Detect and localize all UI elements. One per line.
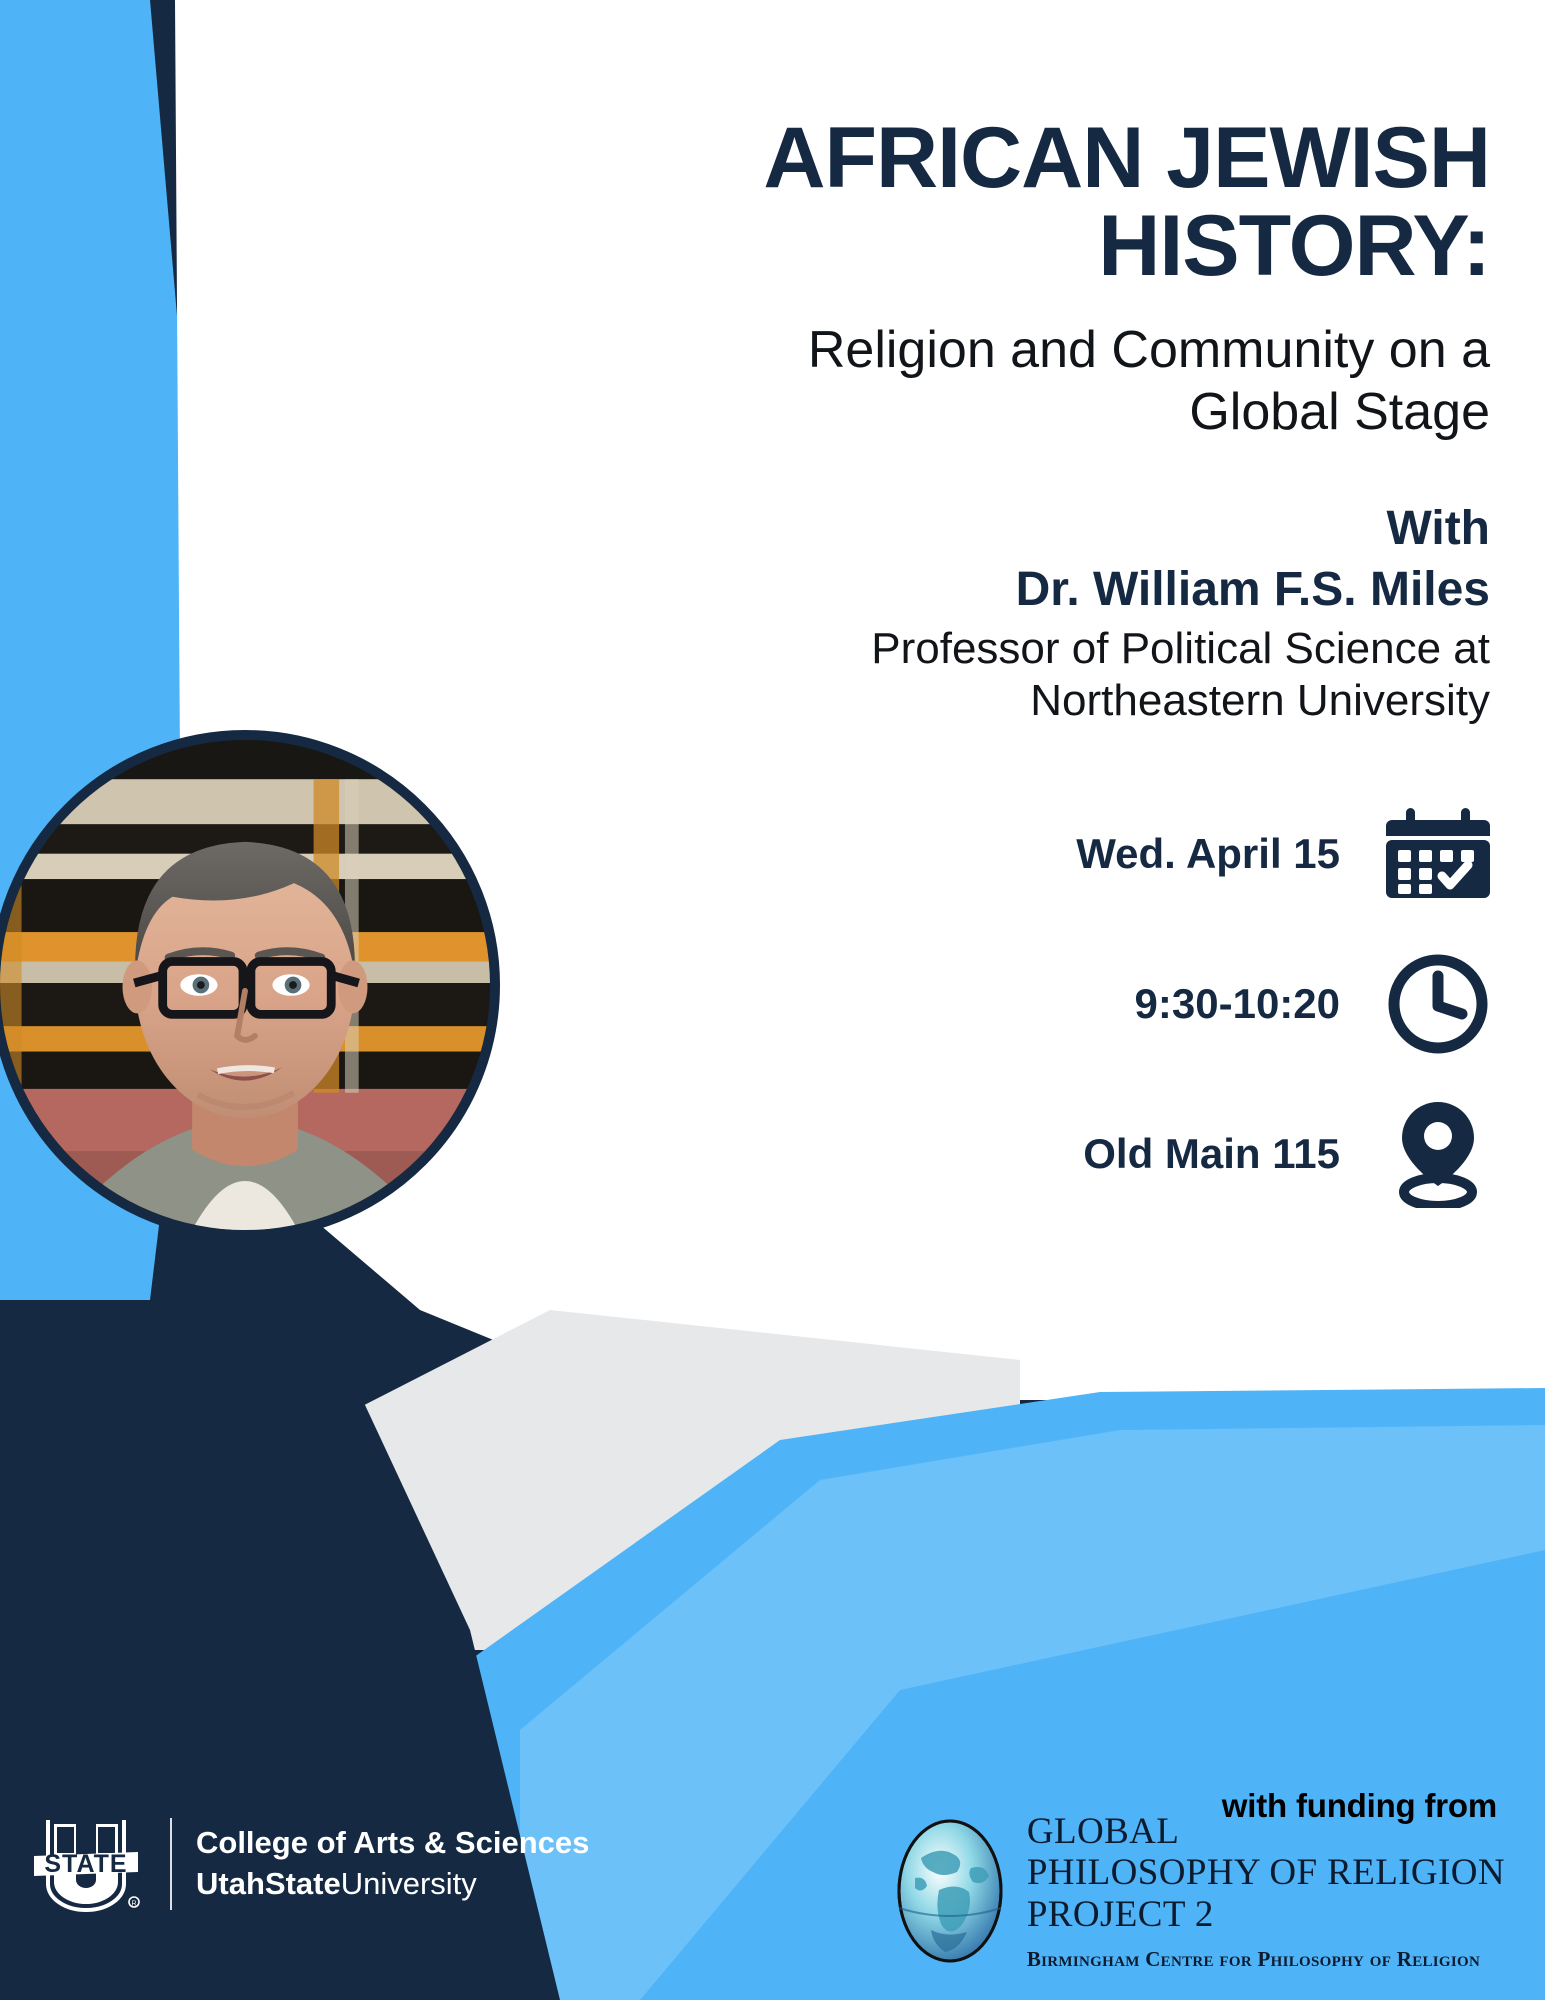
affiliation-line-2: Northeastern University [480, 675, 1490, 727]
speaker-name: Dr. William F.S. Miles [480, 562, 1490, 617]
with-label: With [480, 501, 1490, 556]
logo-divider [170, 1818, 172, 1910]
detail-row-time: 9:30-10:20 [770, 945, 1490, 1063]
subtitle-line-2: Global Stage [480, 382, 1490, 443]
event-location-label: Old Main 115 [1083, 1130, 1340, 1178]
detail-row-date: Wed. April 15 [770, 795, 1490, 913]
event-time-label: 9:30-10:20 [1135, 980, 1340, 1028]
poster-content: AFRICAN JEWISH HISTORY: Religion and Com… [480, 0, 1490, 727]
title-line-2: HISTORY: [480, 203, 1490, 291]
map-pin-icon [1386, 1100, 1490, 1208]
speaker-portrait-image [0, 740, 490, 1230]
speaker-affiliation: Professor of Political Science at Northe… [480, 623, 1490, 727]
event-poster: AFRICAN JEWISH HISTORY: Religion and Com… [0, 0, 1545, 2000]
university-name-bold: UtahState [196, 1866, 341, 1901]
poster-title: AFRICAN JEWISH HISTORY: [480, 115, 1490, 290]
utah-state-lockup-text: College of Arts & Sciences UtahStateUniv… [196, 1823, 589, 1905]
speaker-portrait [0, 730, 500, 1240]
affiliation-line-1: Professor of Political Science at [480, 623, 1490, 675]
subtitle-line-1: Religion and Community on a [480, 320, 1490, 381]
globe-icon [891, 1816, 1009, 1966]
utah-state-u-icon: STATE R [26, 1810, 146, 1918]
event-date-label: Wed. April 15 [1076, 830, 1340, 878]
calendar-icon [1386, 806, 1490, 902]
svg-text:R: R [131, 1901, 136, 1908]
university-name: UtahStateUniversity [196, 1864, 589, 1905]
gpr-project-logo-block: GLOBAL PHILOSOPHY OF RELIGION PROJECT 2 … [891, 1811, 1505, 1972]
poster-subtitle: Religion and Community on a Global Stage [480, 320, 1490, 443]
svg-text:STATE: STATE [44, 1850, 127, 1878]
gpr-subtitle: Birmingham Centre for Philosophy of Reli… [1027, 1947, 1505, 1972]
utah-state-logo-block: STATE R College of Arts & Sciences UtahS… [26, 1810, 589, 1918]
gpr-line-1: GLOBAL [1027, 1811, 1505, 1852]
university-name-rest: University [341, 1866, 477, 1901]
gpr-project-text: GLOBAL PHILOSOPHY OF RELIGION PROJECT 2 … [1027, 1811, 1505, 1972]
event-details: Wed. April 15 [770, 795, 1490, 1245]
detail-row-location: Old Main 115 [770, 1095, 1490, 1213]
title-line-1: AFRICAN JEWISH [480, 115, 1490, 203]
gpr-line-2: PHILOSOPHY OF RELIGION [1027, 1852, 1505, 1893]
college-name: College of Arts & Sciences [196, 1823, 589, 1864]
gpr-line-3: PROJECT 2 [1027, 1894, 1505, 1935]
clock-icon [1386, 954, 1490, 1054]
